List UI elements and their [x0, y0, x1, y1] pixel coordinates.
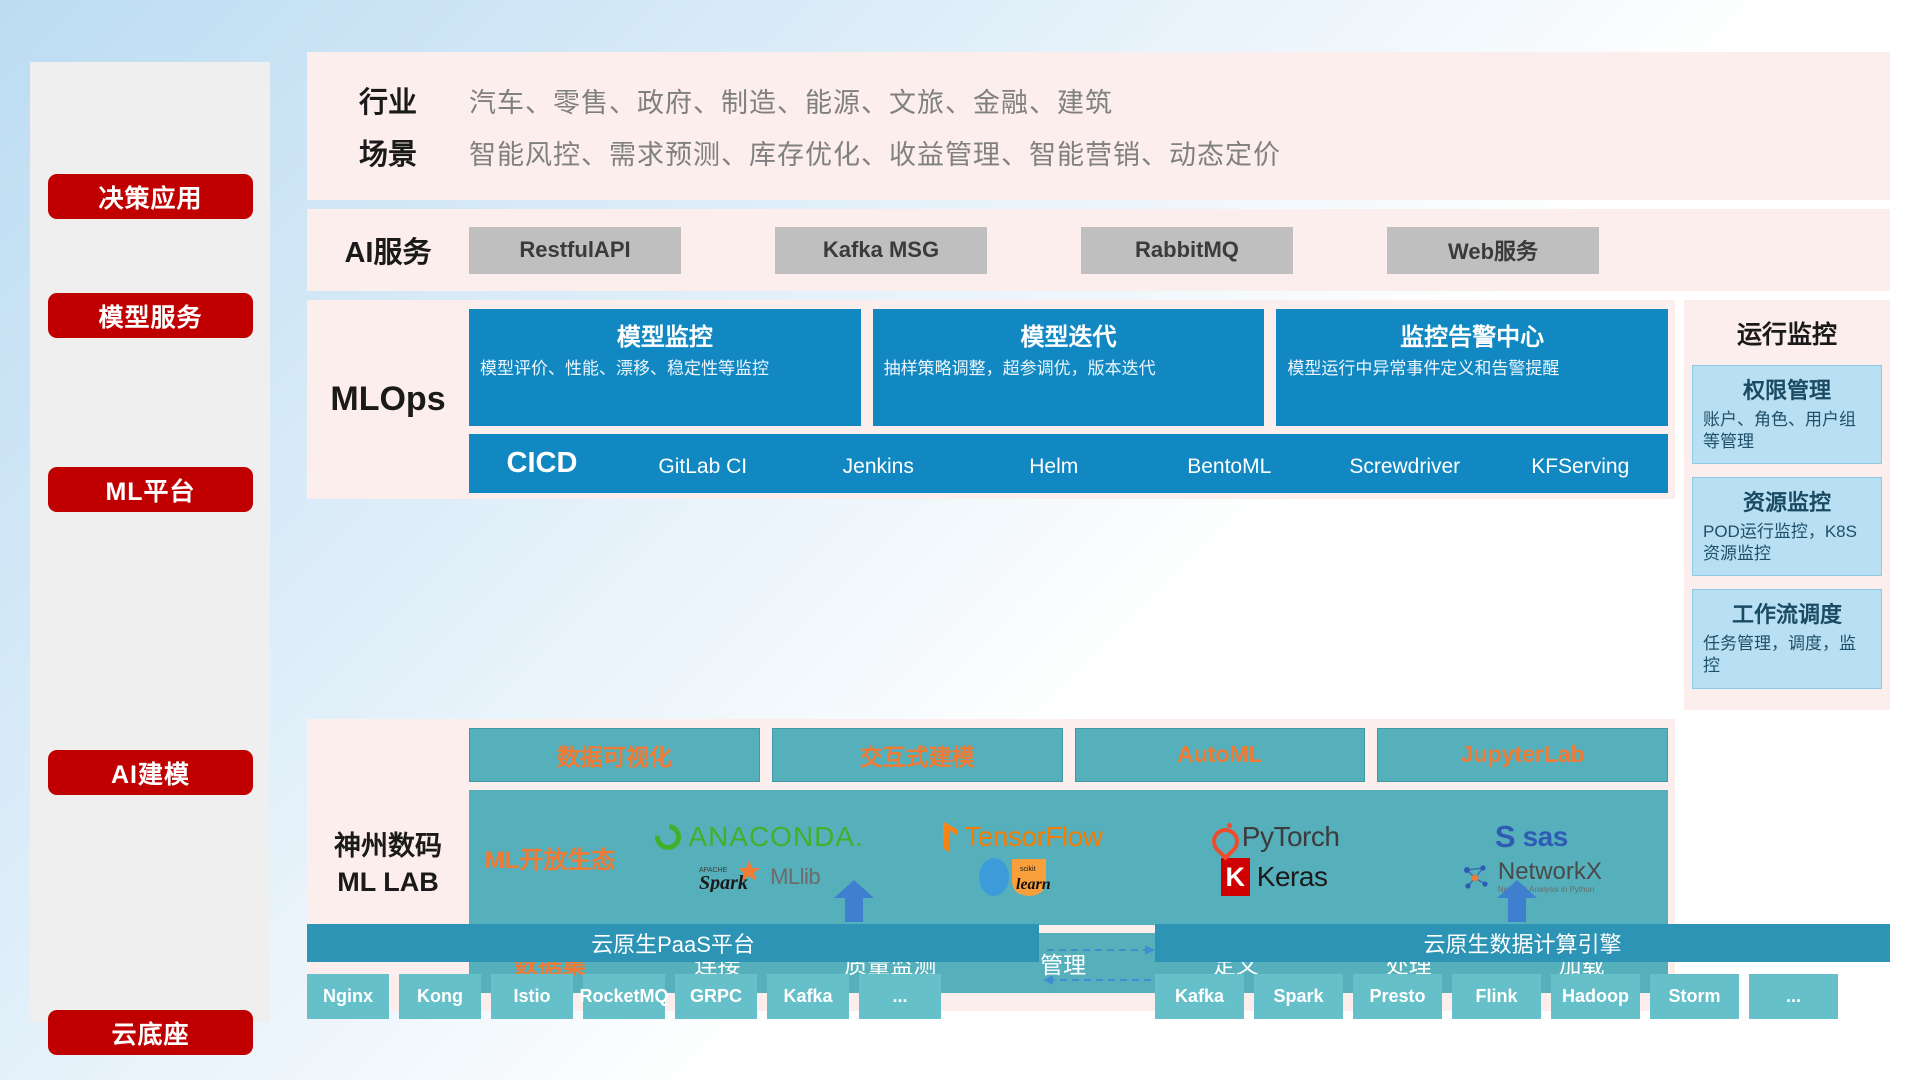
paas-chip-grpc[interactable]: GRPC: [675, 974, 757, 1019]
paas-chip-nginx[interactable]: Nginx: [307, 974, 389, 1019]
industry-row: 行业 汽车、零售、政府、制造、能源、文旅、金融、建筑: [307, 74, 1890, 126]
svg-text:scikit: scikit: [1020, 866, 1036, 873]
mlops-band: MLOps 模型监控 模型评价、性能、漂移、稳定性等监控 模型迭代 抽样策略调整…: [307, 300, 1675, 499]
engine-chip-more[interactable]: ...: [1749, 974, 1838, 1019]
anaconda-logo: ANACONDA.: [655, 821, 863, 853]
cicd-item-jenkins[interactable]: Jenkins: [791, 454, 967, 480]
service-chip-restfulapi[interactable]: RestfulAPI: [469, 227, 681, 274]
scenario-label: 场景: [307, 131, 469, 173]
industry-label: 行业: [307, 79, 469, 121]
lab-tool-interactive-modeling[interactable]: 交互式建模: [772, 728, 1063, 782]
card-title: 监控告警中心: [1287, 317, 1657, 352]
up-arrow-right-icon: [1495, 878, 1539, 922]
tensorflow-logo: TensorFlow: [931, 821, 1102, 853]
ai-service-label: AI服务: [307, 229, 469, 271]
scenario-row: 场景 智能风控、需求预测、库存优化、收益管理、智能营销、动态定价: [307, 126, 1890, 178]
card-title: 工作流调度: [1703, 597, 1871, 629]
industry-values: 汽车、零售、政府、制造、能源、文旅、金融、建筑: [469, 81, 1113, 120]
monitor-card-permission[interactable]: 权限管理 账户、角色、用户组等管理: [1692, 365, 1882, 464]
cloud-data-engine-bar[interactable]: 云原生数据计算引擎: [1155, 924, 1890, 962]
cicd-item-helm[interactable]: Helm: [966, 454, 1142, 480]
paas-chip-row: Nginx Kong Istio RocketMQ GRPC Kafka ...: [307, 974, 941, 1019]
card-desc: POD运行监控，K8S资源监控: [1703, 521, 1871, 565]
data-engine-chip-row: Kafka Spark Presto Flink Hadoop Storm ..…: [1155, 974, 1838, 1019]
lab-tool-automl[interactable]: AutoML: [1075, 728, 1366, 782]
cloud-foundation-section: 云原生PaaS平台 云原生数据计算引擎 Nginx Kong Istio Roc…: [307, 878, 1890, 1038]
cloud-paas-bar[interactable]: 云原生PaaS平台: [307, 924, 1039, 962]
mlops-content: 模型监控 模型评价、性能、漂移、稳定性等监控 模型迭代 抽样策略调整，超参调优，…: [469, 300, 1675, 499]
mlops-card-model-iteration[interactable]: 模型迭代 抽样策略调整，超参调优，版本迭代: [873, 309, 1265, 426]
rail-item-ai-modeling[interactable]: AI建模: [48, 750, 253, 795]
ml-lab-label-line1: 神州数码: [334, 829, 442, 864]
rail-item-ml-platform[interactable]: ML平台: [48, 467, 253, 512]
pytorch-icon: [1209, 823, 1235, 851]
card-desc: 任务管理，调度，监控: [1703, 633, 1871, 677]
service-chip-web-service[interactable]: Web服务: [1387, 227, 1599, 274]
tensorflow-icon: [931, 822, 957, 852]
sas-icon: S: [1495, 819, 1516, 855]
paas-chip-kong[interactable]: Kong: [399, 974, 481, 1019]
engine-chip-kafka[interactable]: Kafka: [1155, 974, 1244, 1019]
cicd-item-list: GitLab CI Jenkins Helm BentoML Screwdriv…: [615, 446, 1668, 480]
pytorch-logo: PyTorch: [1209, 821, 1340, 853]
main-column: 行业 汽车、零售、政府、制造、能源、文旅、金融、建筑 场景 智能风控、需求预测、…: [307, 52, 1890, 1011]
cicd-item-bentoml[interactable]: BentoML: [1142, 454, 1318, 480]
service-chip-rabbitmq[interactable]: RabbitMQ: [1081, 227, 1293, 274]
rail-item-decision-app[interactable]: 决策应用: [48, 174, 253, 219]
cicd-item-screwdriver[interactable]: Screwdriver: [1317, 454, 1493, 480]
mlops-label: MLOps: [307, 300, 469, 499]
monitor-card-resource[interactable]: 资源监控 POD运行监控，K8S资源监控: [1692, 477, 1882, 576]
cicd-bar: CICD GitLab CI Jenkins Helm BentoML Scre…: [469, 434, 1668, 493]
engine-chip-spark[interactable]: Spark: [1254, 974, 1343, 1019]
tensorflow-logo-text: TensorFlow: [964, 821, 1102, 853]
ml-lab-tool-list: 数据可视化 交互式建模 AutoML JupyterLab: [469, 728, 1668, 782]
monitor-card-workflow[interactable]: 工作流调度 任务管理，调度，监控: [1692, 589, 1882, 688]
sas-logo: S sas: [1495, 819, 1568, 855]
runtime-monitor-title: 运行监控: [1692, 315, 1882, 351]
engine-chip-flink[interactable]: Flink: [1452, 974, 1541, 1019]
runtime-monitor-column: 运行监控 权限管理 账户、角色、用户组等管理 资源监控 POD运行监控，K8S资…: [1684, 300, 1890, 710]
card-title: 模型迭代: [884, 317, 1254, 352]
card-desc: 模型评价、性能、漂移、稳定性等监控: [480, 358, 850, 381]
cicd-item-gitlab-ci[interactable]: GitLab CI: [615, 454, 791, 480]
card-desc: 模型运行中异常事件定义和告警提醒: [1287, 358, 1657, 381]
architecture-diagram: 决策应用 模型服务 ML平台 AI建模 云底座 行业 汽车、零售、政府、制造、能…: [0, 0, 1920, 1080]
rail-item-model-service[interactable]: 模型服务: [48, 293, 253, 338]
rail-item-cloud-foundation[interactable]: 云底座: [48, 1010, 253, 1055]
scenario-values: 智能风控、需求预测、库存优化、收益管理、智能营销、动态定价: [469, 133, 1281, 172]
paas-chip-kafka[interactable]: Kafka: [767, 974, 849, 1019]
anaconda-logo-text: ANACONDA.: [688, 821, 863, 853]
lab-tool-data-visualization[interactable]: 数据可视化: [469, 728, 760, 782]
cicd-title: CICD: [469, 447, 615, 480]
card-title: 模型监控: [480, 317, 850, 352]
engine-chip-storm[interactable]: Storm: [1650, 974, 1739, 1019]
paas-chip-more[interactable]: ...: [859, 974, 941, 1019]
cicd-item-kfserving[interactable]: KFServing: [1493, 454, 1669, 480]
card-desc: 抽样策略调整，超参调优，版本迭代: [884, 358, 1254, 381]
bidirectional-dashed-connector-icon: [1043, 918, 1155, 998]
mlops-card-model-monitoring[interactable]: 模型监控 模型评价、性能、漂移、稳定性等监控: [469, 309, 861, 426]
card-desc: 账户、角色、用户组等管理: [1703, 409, 1871, 453]
industry-band: 行业 汽车、零售、政府、制造、能源、文旅、金融、建筑 场景 智能风控、需求预测、…: [307, 52, 1890, 200]
mlops-card-alert-center[interactable]: 监控告警中心 模型运行中异常事件定义和告警提醒: [1276, 309, 1668, 426]
sas-logo-text: sas: [1523, 821, 1568, 853]
mlops-card-list: 模型监控 模型评价、性能、漂移、稳定性等监控 模型迭代 抽样策略调整，超参调优，…: [469, 309, 1668, 426]
engine-chip-presto[interactable]: Presto: [1353, 974, 1442, 1019]
ai-service-items: RestfulAPI Kafka MSG RabbitMQ Web服务: [469, 227, 1890, 274]
engine-chip-hadoop[interactable]: Hadoop: [1551, 974, 1640, 1019]
ai-service-band: AI服务 RestfulAPI Kafka MSG RabbitMQ Web服务: [307, 209, 1890, 291]
card-title: 资源监控: [1703, 485, 1871, 517]
service-chip-kafka-msg[interactable]: Kafka MSG: [775, 227, 987, 274]
up-arrow-left-icon: [832, 878, 876, 922]
paas-chip-istio[interactable]: Istio: [491, 974, 573, 1019]
ml-open-ecosystem-label: ML开放生态: [469, 840, 631, 875]
card-title: 权限管理: [1703, 373, 1871, 405]
lab-tool-jupyterlab[interactable]: JupyterLab: [1377, 728, 1668, 782]
mlops-row: MLOps 模型监控 模型评价、性能、漂移、稳定性等监控 模型迭代 抽样策略调整…: [307, 300, 1890, 710]
paas-chip-rocketmq[interactable]: RocketMQ: [583, 974, 665, 1019]
left-rail: 决策应用 模型服务 ML平台 AI建模 云底座: [30, 62, 270, 1022]
pytorch-logo-text: PyTorch: [1242, 821, 1340, 853]
anaconda-icon: [650, 819, 686, 855]
